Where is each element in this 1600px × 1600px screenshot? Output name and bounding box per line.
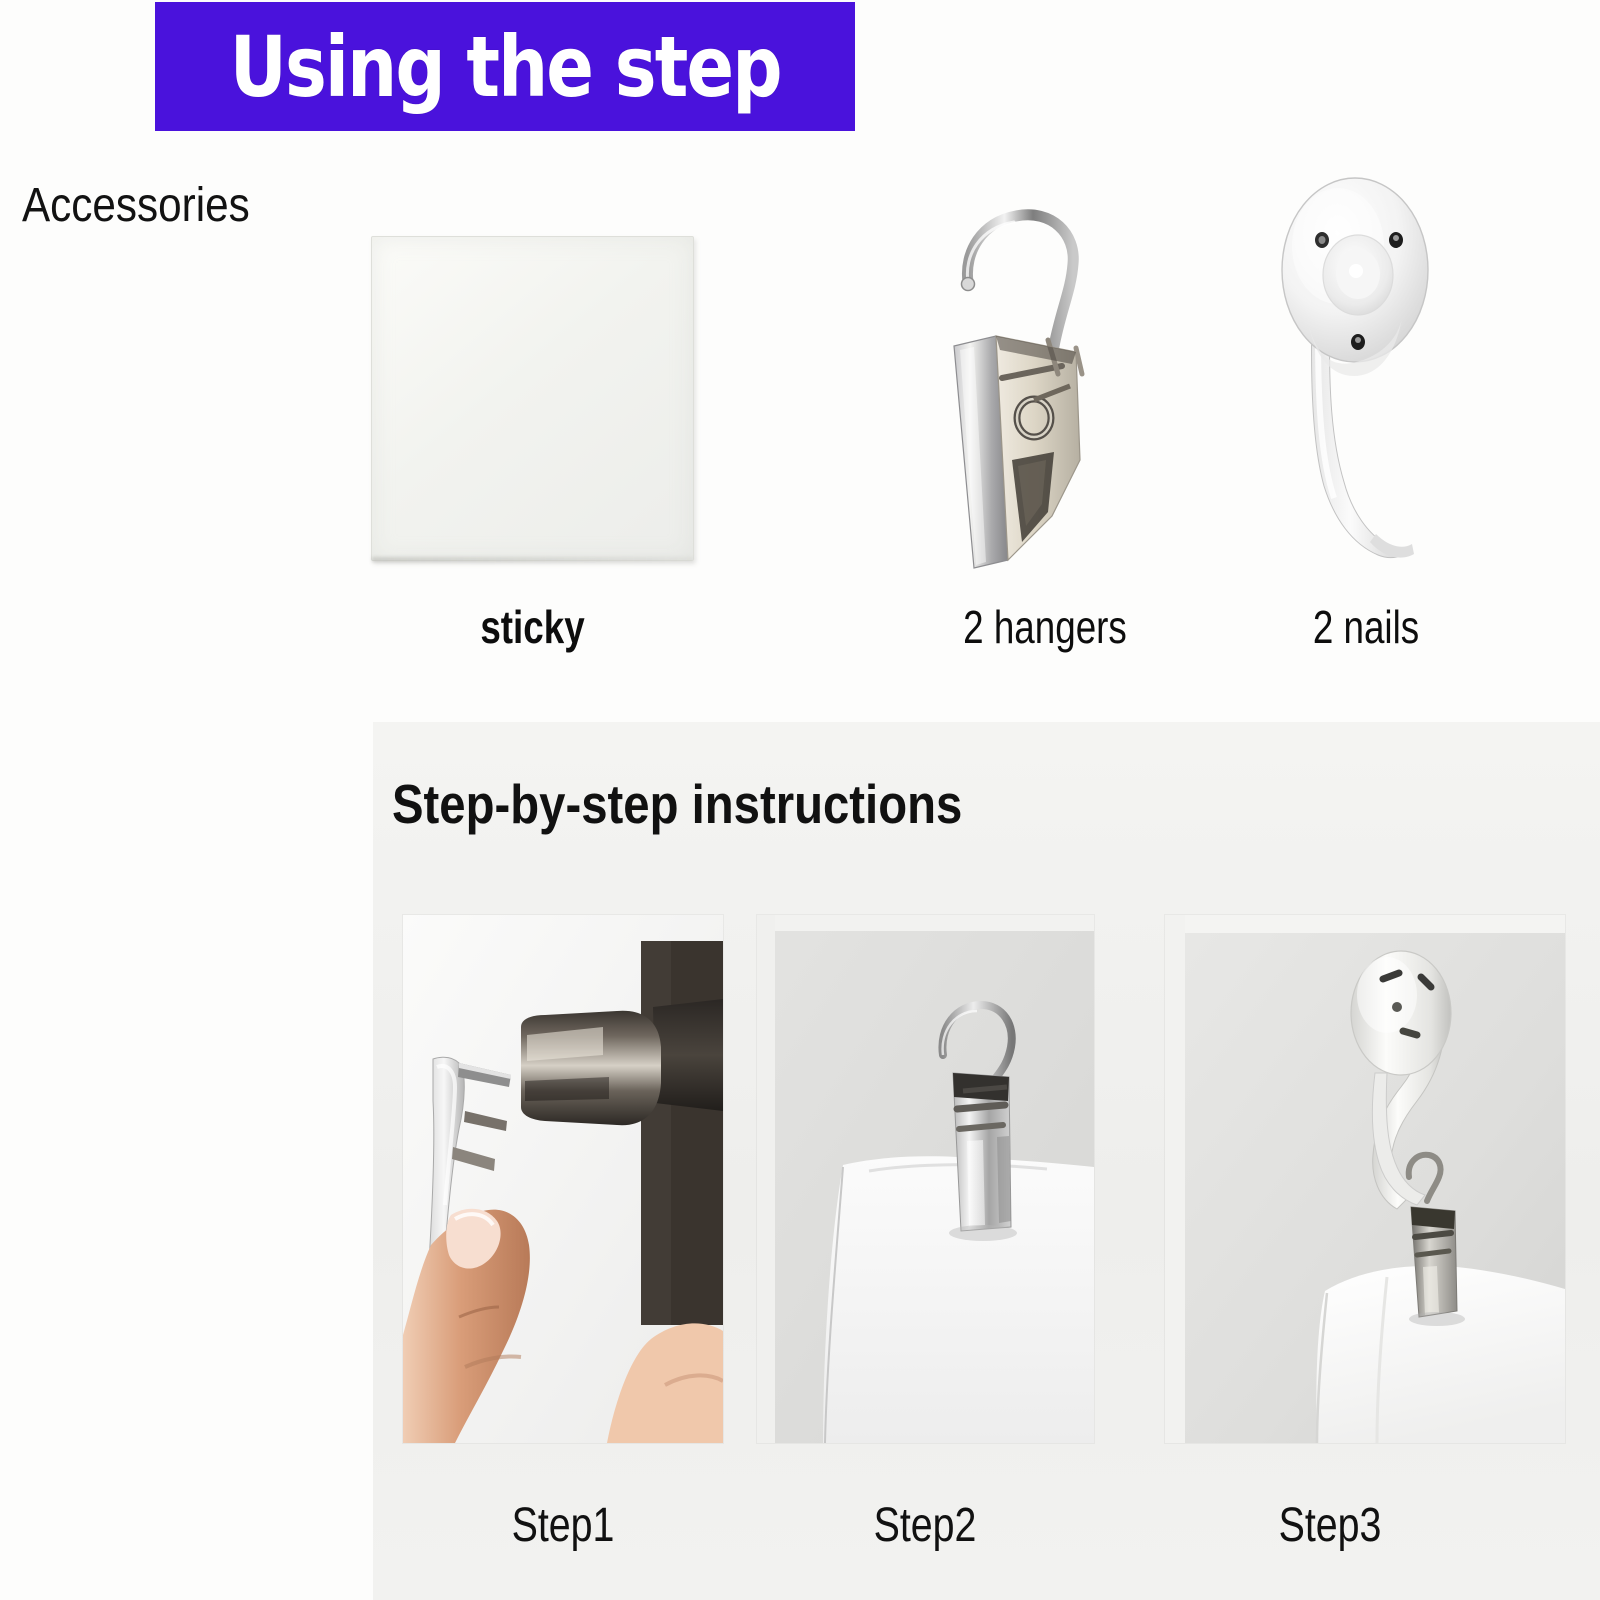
step-photo-2	[757, 915, 1094, 1443]
accessories-section-label: Accessories	[22, 178, 250, 233]
wall-hook-nail-icon	[1272, 162, 1462, 572]
hanger-clip-icon	[930, 160, 1160, 570]
step-caption-2: Step2	[794, 1498, 1056, 1553]
page-title: Using the step	[230, 18, 781, 116]
header-banner: Using the step	[155, 2, 855, 131]
step-caption-1: Step1	[432, 1498, 694, 1553]
accessory-caption-sticky: sticky	[403, 600, 661, 654]
instructions-section-label: Step-by-step instructions	[392, 772, 962, 836]
step-caption-3: Step3	[1199, 1498, 1461, 1553]
step-photo-1	[403, 915, 723, 1443]
accessory-caption-nails: 2 nails	[1270, 600, 1462, 654]
infographic-page: Using the step Accessories sticky	[0, 0, 1600, 1600]
adhesive-pad-icon	[371, 236, 694, 561]
step-photo-3	[1165, 915, 1565, 1443]
accessory-caption-hangers: 2 hangers	[927, 600, 1162, 654]
